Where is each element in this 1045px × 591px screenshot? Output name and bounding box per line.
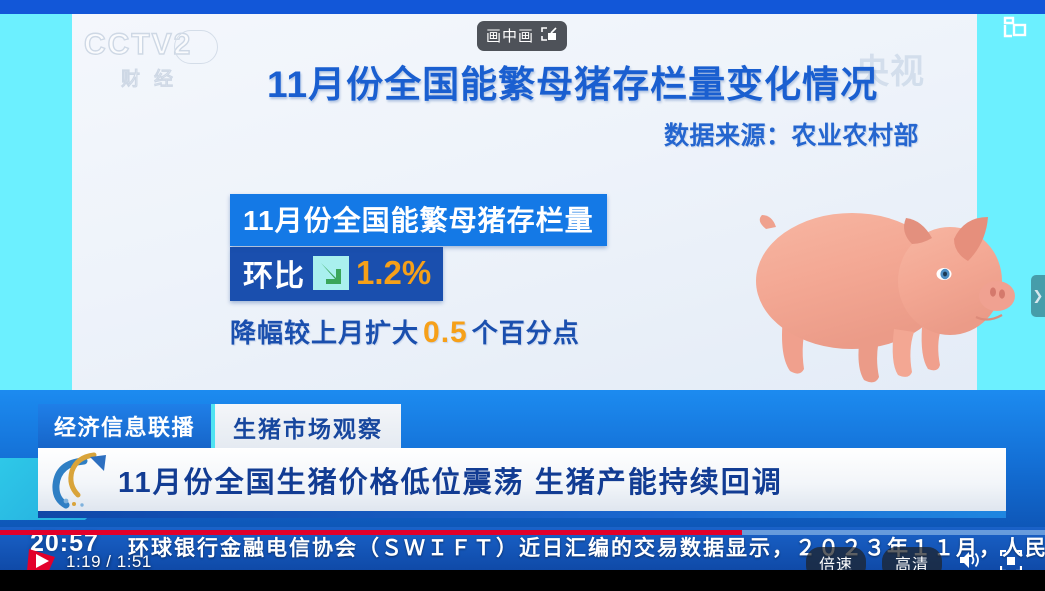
highlight-block: 11月份全国能繁母猪存栏量 环比 1.2% 降幅较上月扩大0.5个百分点 bbox=[230, 194, 607, 350]
highlight-note-number: 0.5 bbox=[419, 316, 472, 349]
lower-third-banner: 经济信息联播 生猪市场观察 11月份全国生猪价格低位震荡 生猪产能持续回调 bbox=[0, 390, 1045, 527]
picture-in-picture-icon bbox=[540, 26, 558, 46]
swoosh-logo-icon bbox=[44, 451, 118, 509]
lower-third-tabs: 经济信息联播 生猪市场观察 bbox=[38, 404, 401, 452]
picture-in-picture-button[interactable]: 画中画 bbox=[477, 21, 567, 51]
cctv-logo-oval bbox=[174, 30, 218, 64]
chevron-right-icon: ❯ bbox=[1033, 288, 1044, 304]
headline-bar: 11月份全国生猪价格低位震荡 生猪产能持续回调 bbox=[38, 448, 1006, 511]
highlight-change-label: 环比 bbox=[243, 251, 305, 295]
video-surface[interactable]: 央视 CCTV2 财经 11月份全国能繁母猪存栏量变化情况 数据来源：农业农村部… bbox=[0, 0, 1045, 570]
program-tag: 经济信息联播 bbox=[38, 404, 215, 452]
pip-button-label: 画中画 bbox=[486, 25, 534, 46]
highlight-note-prefix: 降幅较上月扩大 bbox=[230, 318, 419, 348]
highlight-line-1: 11月份全国能繁母猪存栏量 bbox=[230, 194, 607, 246]
headline-underline bbox=[38, 511, 1006, 518]
video-player[interactable]: 央视 CCTV2 财经 11月份全国能繁母猪存栏量变化情况 数据来源：农业农村部… bbox=[0, 0, 1045, 591]
pig-illustration bbox=[744, 189, 1044, 394]
left-cyan-band bbox=[0, 14, 72, 390]
highlight-note: 降幅较上月扩大0.5个百分点 bbox=[230, 313, 607, 350]
side-panel-toggle[interactable]: ❯ bbox=[1031, 275, 1045, 317]
corner-picture-in-picture-icon[interactable] bbox=[1003, 16, 1027, 38]
cctv-logo-main: CCTV bbox=[84, 28, 174, 61]
fullscreen-icon[interactable] bbox=[1000, 550, 1022, 572]
infographic-source: 数据来源：农业农村部 bbox=[664, 116, 919, 152]
infographic-title: 11月份全国能繁母猪存栏量变化情况 bbox=[267, 54, 878, 108]
segment-tag: 生猪市场观察 bbox=[215, 404, 401, 452]
highlight-change-value: 1.2% bbox=[356, 254, 431, 292]
arrow-down-right-icon bbox=[313, 256, 349, 290]
cctv-logo: CCTV2 财经 bbox=[84, 28, 224, 100]
cctv-logo-sub: 财经 bbox=[84, 64, 224, 91]
player-bottom-bar bbox=[0, 570, 1045, 591]
time-display: 1:19 / 1:51 bbox=[66, 552, 152, 572]
volume-icon[interactable] bbox=[957, 549, 981, 571]
highlight-line-2: 环比 1.2% bbox=[230, 247, 443, 301]
headline-text: 11月份全国生猪价格低位震荡 生猪产能持续回调 bbox=[118, 459, 783, 501]
highlight-note-suffix: 个百分点 bbox=[472, 318, 580, 348]
infographic-panel: 央视 CCTV2 财经 11月份全国能繁母猪存栏量变化情况 数据来源：农业农村部… bbox=[72, 14, 977, 390]
top-blue-strip bbox=[0, 0, 1045, 14]
